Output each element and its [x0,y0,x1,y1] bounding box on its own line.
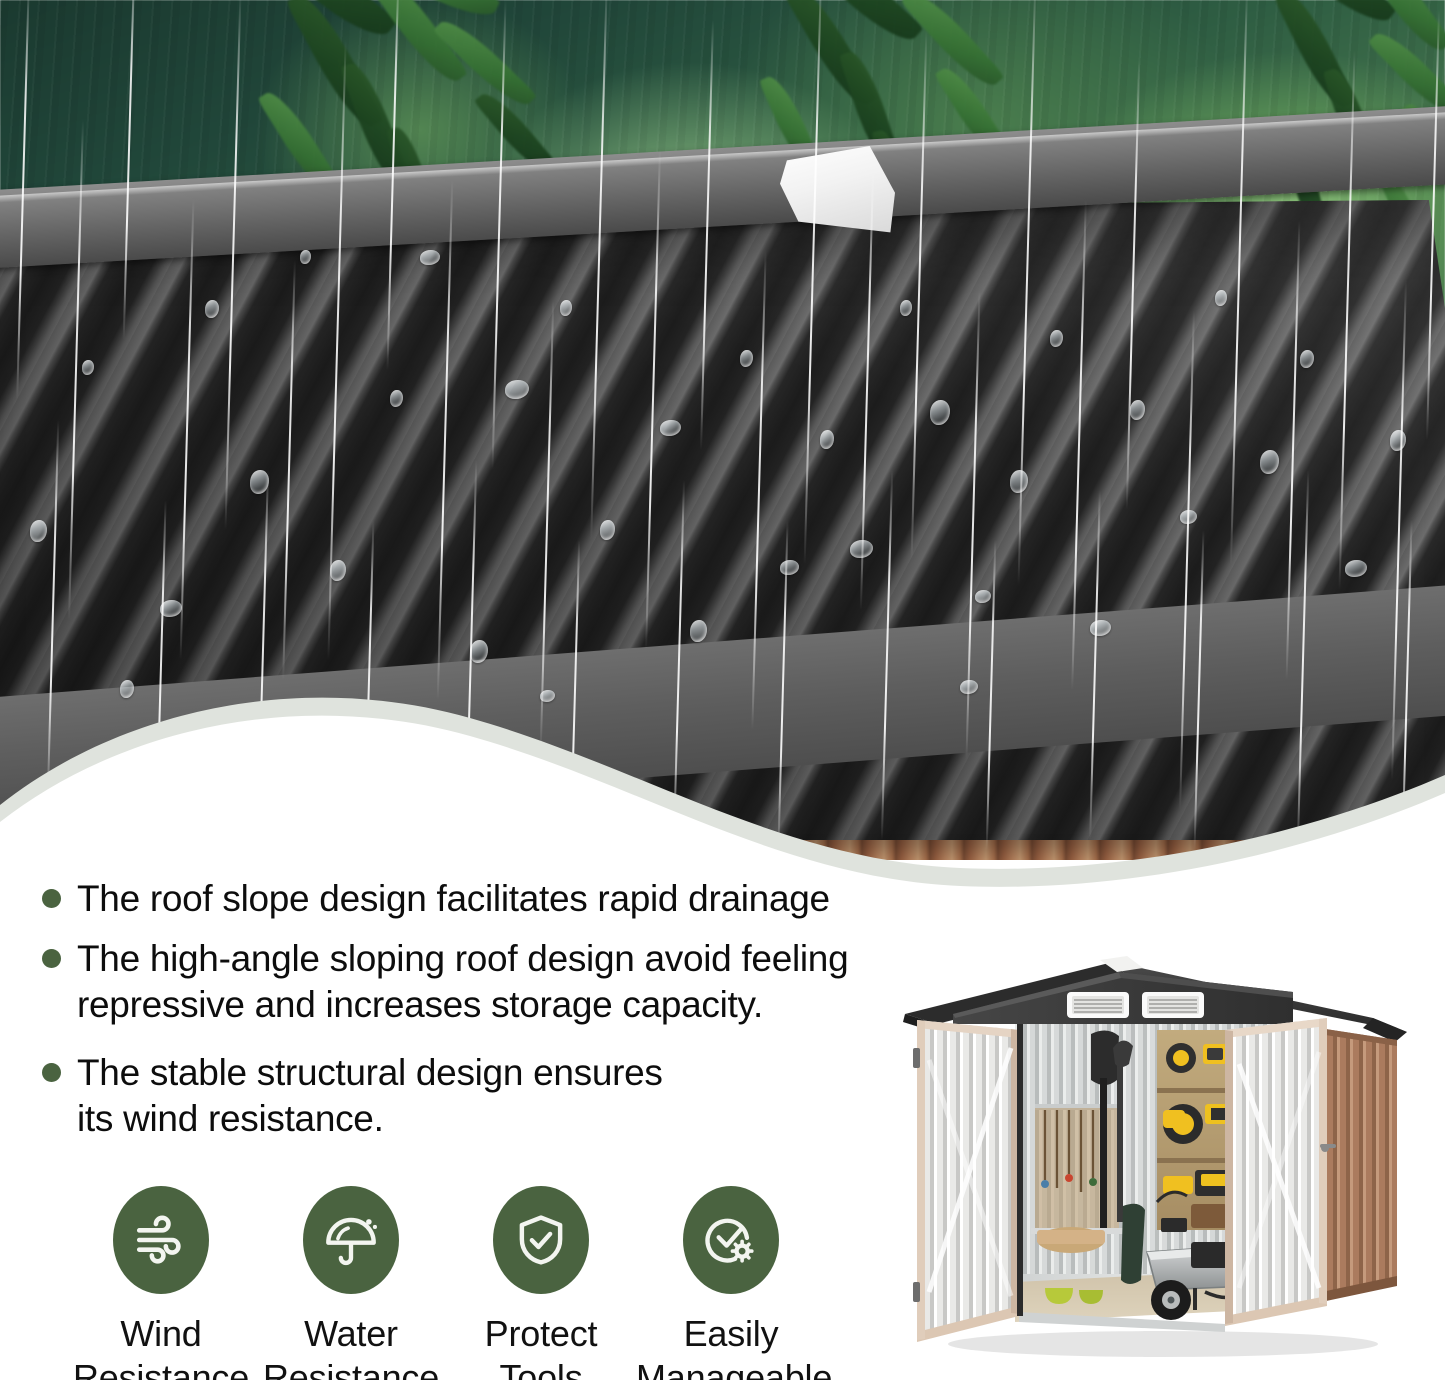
door-handle-bar [1320,1144,1336,1148]
door-jamb-left [1017,1024,1023,1316]
feature-badge-circle [113,1186,209,1294]
feature-label-line: Tools [446,1356,636,1380]
roof-vent-left [1067,992,1129,1018]
feature-label-line: Manageable [636,1356,826,1380]
feature-label-line: Easily [636,1312,826,1356]
feature-label: Wind Resistance [66,1312,256,1380]
check-gear-icon [702,1211,760,1269]
bullet-item: The stable structural design ensures its… [42,1050,942,1142]
door-hinge [913,1282,920,1302]
bullet-line: The stable structural design ensures [77,1050,663,1096]
feature-wind-resistance: Wind Resistance [66,1186,256,1380]
feature-label-line: Water [256,1312,446,1356]
feature-badge-row: Wind Resistance Water Resistance [66,1186,826,1380]
rake-handle [1117,1062,1123,1222]
bullet-text: The high-angle sloping roof design avoid… [77,936,848,1028]
feature-label: Water Resistance [256,1312,446,1380]
feature-label-line: Resistance [256,1356,446,1380]
bullet-dot-icon [42,949,61,968]
feature-easily-manageable: Easily Manageable [636,1186,826,1380]
feature-label: Protect Tools [446,1312,636,1380]
bullet-item: The high-angle sloping roof design avoid… [42,936,942,1028]
bullet-text: The stable structural design ensures its… [77,1050,663,1142]
feature-water-resistance: Water Resistance [256,1186,446,1380]
bullet-dot-icon [42,889,61,908]
bullet-item: The roof slope design facilitates rapid … [42,876,942,922]
bullet-text: The roof slope design facilitates rapid … [77,876,830,922]
feature-label-line: Wind [66,1312,256,1356]
feature-badge-circle [493,1186,589,1294]
shovel-handle [1100,1078,1107,1228]
feature-label: Easily Manageable [636,1312,826,1380]
feature-label-line: Protect [446,1312,636,1356]
shed-ground-shadow [948,1331,1378,1357]
feature-protect-tools: Protect Tools [446,1186,636,1380]
roof-vent-right [1142,992,1204,1018]
door-hinge [913,1048,920,1068]
wave-body [0,716,1445,890]
bullet-line: its wind resistance. [77,1096,663,1142]
shed-door-right[interactable] [1225,1018,1336,1326]
feature-bullet-list: The roof slope design facilitates rapid … [42,876,942,1156]
feature-label-line: Resistance [66,1356,256,1380]
product-shed-photo [895,952,1443,1372]
bullet-line: repressive and increases storage capacit… [77,982,848,1028]
bullet-line: The high-angle sloping roof design avoid… [77,936,848,982]
wave-divider [0,600,1445,890]
feature-badge-circle [303,1186,399,1294]
umbrella-rain-icon [322,1211,380,1269]
bullet-line: The roof slope design facilitates rapid … [77,876,830,922]
product-feature-graphic: The roof slope design facilitates rapid … [0,0,1445,1380]
shed-door-left[interactable] [913,1020,1019,1342]
feature-badge-circle [683,1186,779,1294]
bullet-dot-icon [42,1063,61,1082]
wind-icon [132,1211,190,1269]
storage-bag [1121,1204,1145,1284]
shield-check-icon [513,1212,569,1268]
